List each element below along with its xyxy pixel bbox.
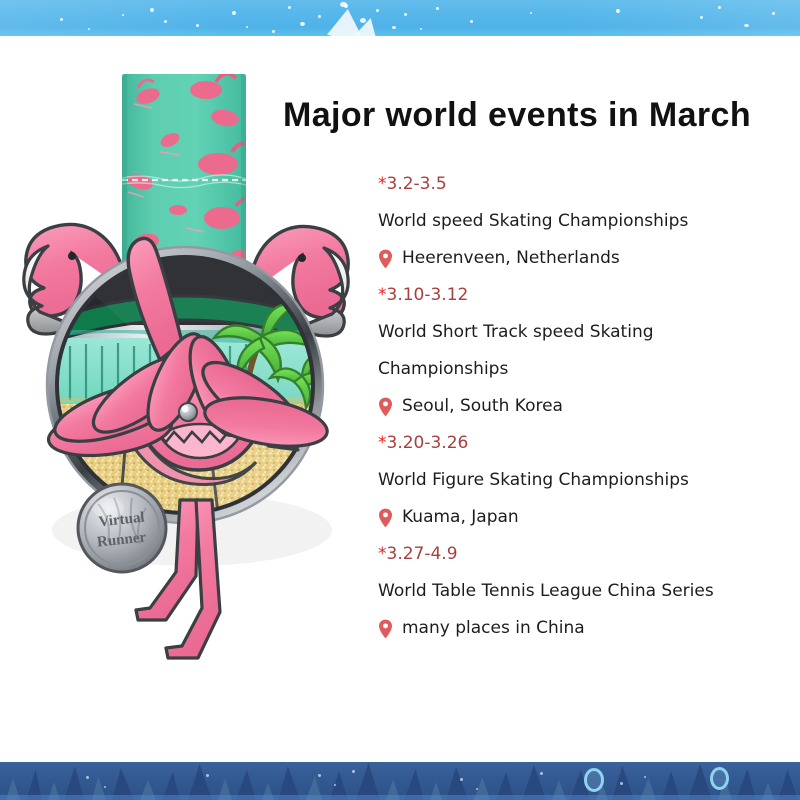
asterisk-marker: * xyxy=(378,174,387,194)
bubble-dot xyxy=(540,772,543,775)
bubble-dot xyxy=(470,20,473,23)
event-item: *3.27-4.9 World Table Tennis League Chin… xyxy=(378,536,778,647)
event-date: *3.2-3.5 xyxy=(378,166,778,203)
bubble-dot xyxy=(150,8,154,12)
bubble-dot xyxy=(616,9,620,13)
bubble-dot xyxy=(436,7,439,10)
bubble-dot xyxy=(206,774,209,777)
event-name: World Table Tennis League China Series xyxy=(378,573,778,610)
event-location-text: Kuama, Japan xyxy=(402,499,519,536)
event-date-text: 3.27-4.9 xyxy=(387,544,458,564)
event-location: Heerenveen, Netherlands xyxy=(378,240,778,277)
bubble-dot xyxy=(232,11,236,15)
bubble-dot xyxy=(318,15,321,18)
bubble-dot xyxy=(376,9,379,12)
bubble-dot xyxy=(744,24,749,27)
event-location-text: many places in China xyxy=(402,610,585,647)
map-pin-icon xyxy=(378,397,393,417)
event-date: *3.20-3.26 xyxy=(378,425,778,462)
event-date-text: 3.10-3.12 xyxy=(387,285,469,305)
bubble-dot xyxy=(644,776,646,778)
map-pin-icon xyxy=(378,619,393,639)
event-item: *3.10-3.12 World Short Track speed Skati… xyxy=(378,277,778,425)
bubble-dot xyxy=(404,13,407,16)
bubble-dot xyxy=(300,22,305,26)
top-water-band xyxy=(0,0,800,36)
bubble-dot xyxy=(334,784,336,786)
bubble-dot xyxy=(620,782,623,785)
event-location: many places in China xyxy=(378,610,778,647)
event-location: Kuama, Japan xyxy=(378,499,778,536)
bubble-ring xyxy=(584,768,604,792)
event-location-text: Seoul, South Korea xyxy=(402,388,563,425)
bubble-dot xyxy=(340,2,347,7)
event-date-text: 3.2-3.5 xyxy=(387,174,447,194)
event-item: *3.20-3.26 World Figure Skating Champion… xyxy=(378,425,778,536)
bubble-dot xyxy=(352,770,355,773)
bubble-dot xyxy=(530,12,532,14)
event-name: World Figure Skating Championships xyxy=(378,462,778,499)
event-date: *3.27-4.9 xyxy=(378,536,778,573)
bubble-dot xyxy=(718,6,721,9)
bubble-dot xyxy=(272,30,275,33)
bubble-ring xyxy=(710,767,729,790)
event-location-text: Heerenveen, Netherlands xyxy=(402,240,620,277)
bubble-dot xyxy=(196,24,199,27)
event-date: *3.10-3.12 xyxy=(378,277,778,314)
event-name-line2: Championships xyxy=(378,351,778,388)
bubble-dot xyxy=(318,774,321,777)
bubble-dot xyxy=(392,26,396,29)
page-title: Major world events in March xyxy=(283,96,751,135)
event-name: World speed Skating Championships xyxy=(378,203,778,240)
asterisk-marker: * xyxy=(378,433,387,453)
bubble-dot xyxy=(246,26,248,28)
band-bottom-cap xyxy=(0,795,800,800)
bottom-seaweed-band xyxy=(0,762,800,800)
bubble-dot xyxy=(772,12,775,15)
bubble-dot xyxy=(122,14,124,16)
events-list: *3.2-3.5 World speed Skating Championshi… xyxy=(378,166,778,647)
bubble-dot xyxy=(60,18,63,21)
bubble-dot xyxy=(700,16,703,19)
map-pin-icon xyxy=(378,249,393,269)
bubble-dot xyxy=(476,788,478,790)
bubble-dot xyxy=(288,6,291,9)
bubble-dot xyxy=(86,776,89,779)
event-name: World Short Track speed Skating xyxy=(378,314,778,351)
event-date-text: 3.20-3.26 xyxy=(387,433,469,453)
map-pin-icon xyxy=(378,508,393,528)
band-sheen xyxy=(0,0,800,36)
bubble-dot xyxy=(88,28,90,30)
flamingo-medal-image: Virtual Runner xyxy=(10,60,360,680)
bubble-dot xyxy=(104,786,106,788)
asterisk-marker: * xyxy=(378,544,387,564)
asterisk-marker: * xyxy=(378,285,387,305)
virtual-runner-badge: Virtual Runner xyxy=(78,484,166,572)
page-root: Virtual Runner Major world events in Mar… xyxy=(0,0,800,800)
event-location: Seoul, South Korea xyxy=(378,388,778,425)
bubble-dot xyxy=(420,28,422,30)
event-item: *3.2-3.5 World speed Skating Championshi… xyxy=(378,166,778,277)
bubble-dot xyxy=(164,20,167,23)
bubble-dot xyxy=(460,778,463,781)
